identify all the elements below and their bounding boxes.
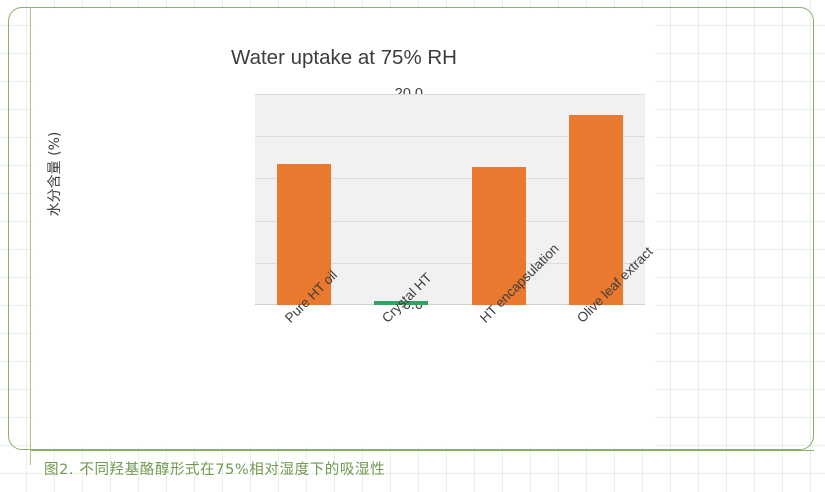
bar-series [255, 94, 645, 305]
chart-panel: Water uptake at 75% RH 水分含量 (%) 20.016.0… [33, 9, 655, 447]
frame-vertical-rule [30, 7, 31, 465]
caption-divider-rule [30, 450, 814, 451]
chart-title: Water uptake at 75% RH [33, 46, 655, 70]
plot-area [255, 94, 645, 305]
y-axis-title: 水分含量 (%) [44, 94, 64, 254]
figure-caption: 图2. 不同羟基酪醇形式在75%相对湿度下的吸湿性 [44, 458, 385, 479]
